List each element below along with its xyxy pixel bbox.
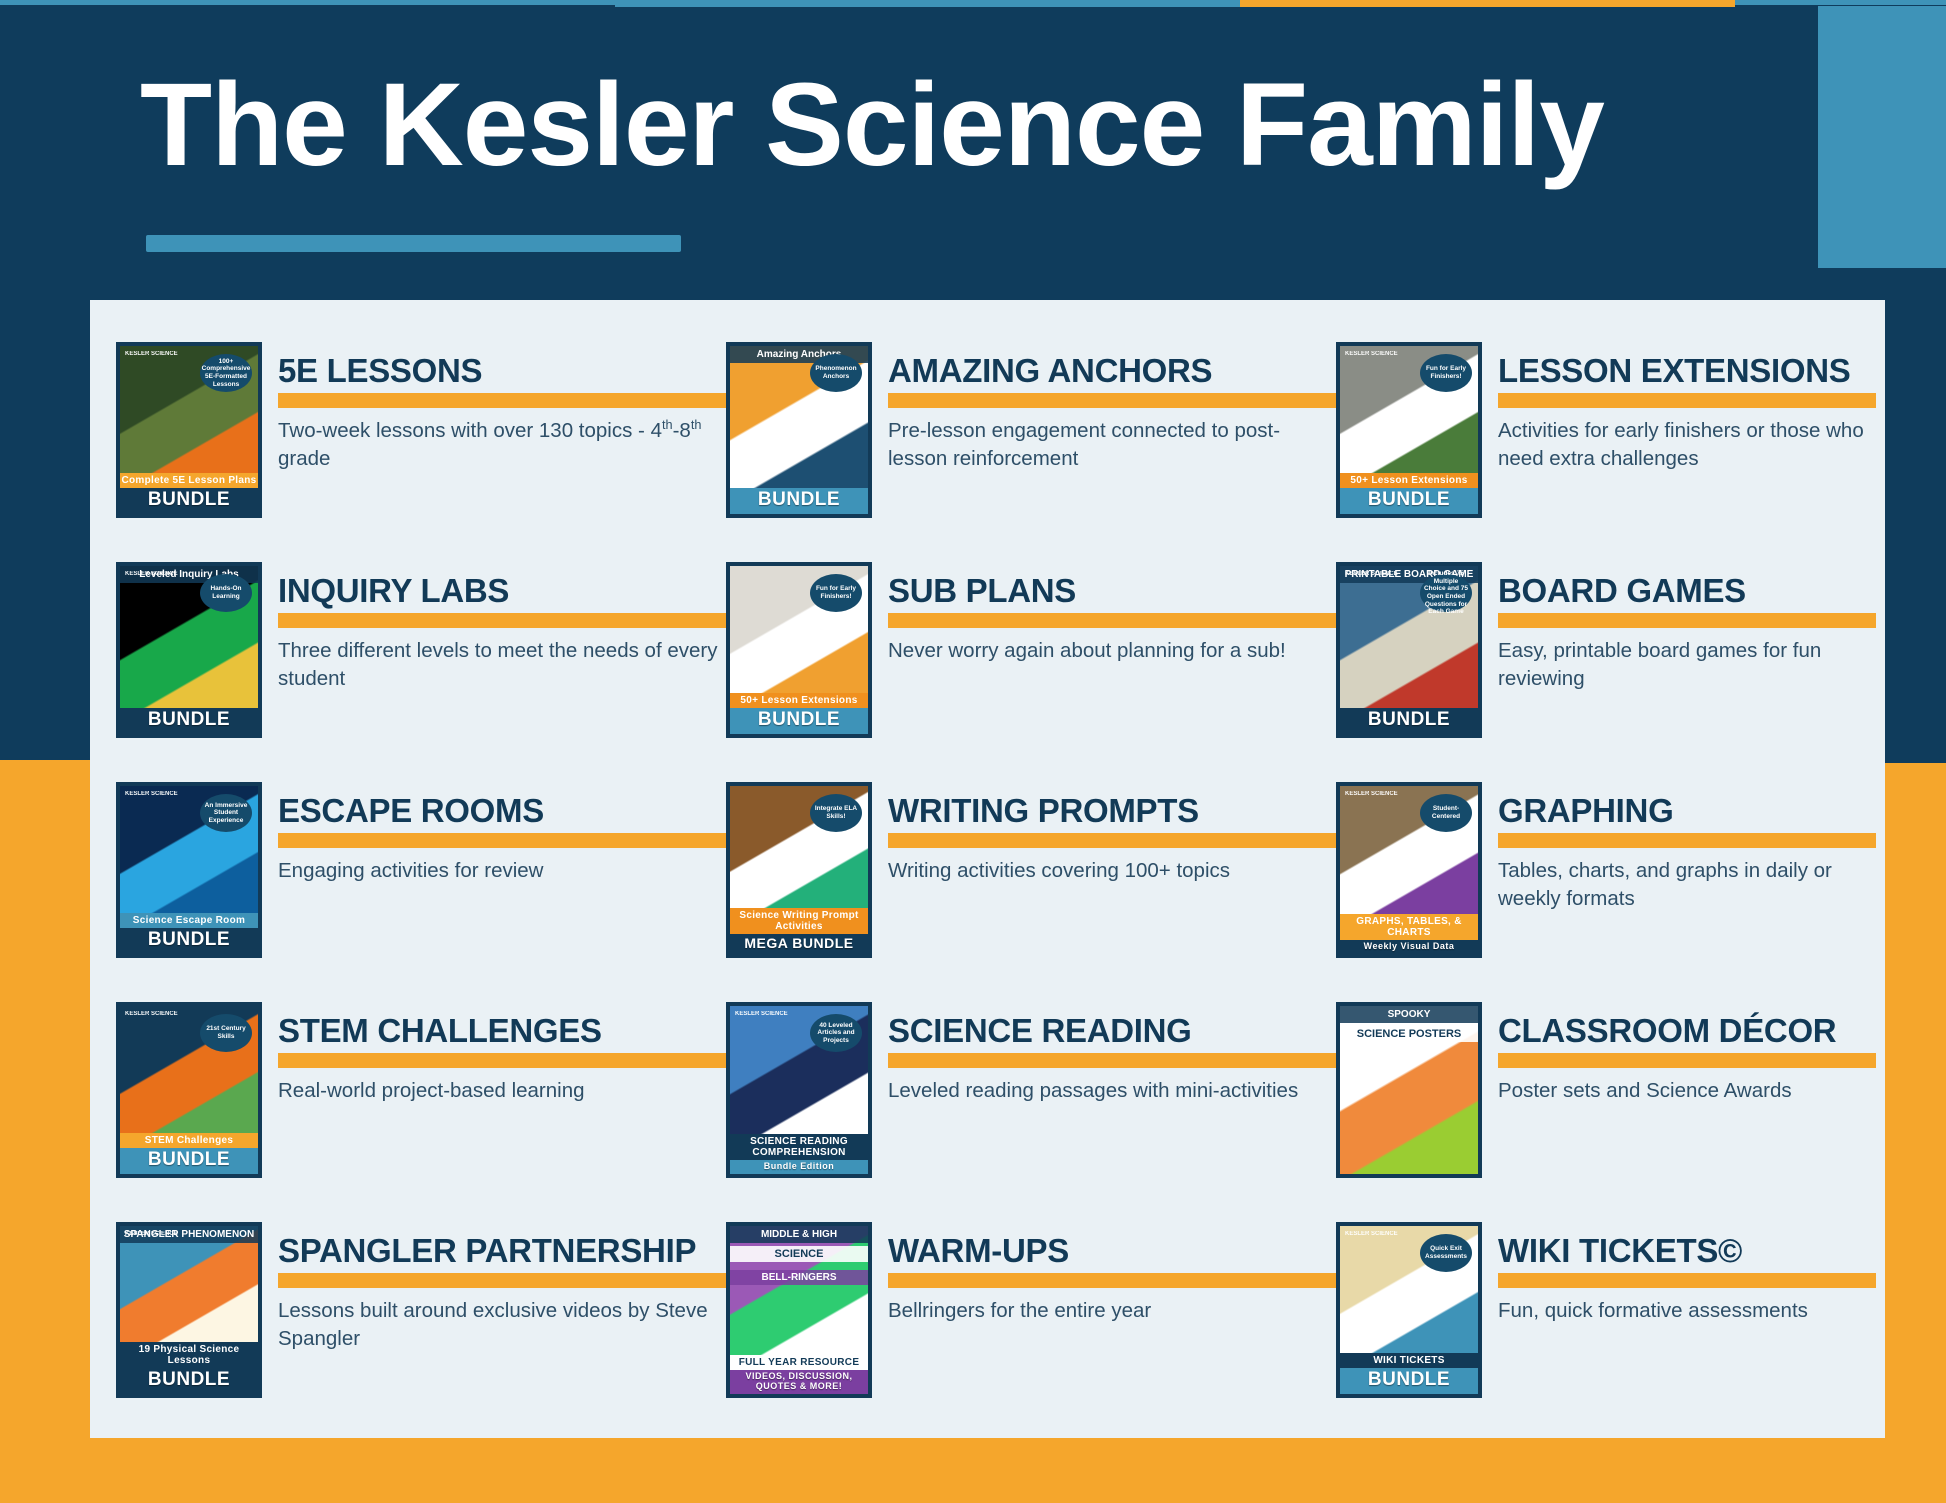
title-underline-bar — [1498, 833, 1876, 848]
product-text-block: SCIENCE READINGLeveled reading passages … — [888, 1002, 1336, 1105]
thumbnail-artwork: KESLER SCIENCEStudent-Centered — [1340, 786, 1478, 914]
thumbnail-badge: Integrate ELA Skills! — [810, 794, 862, 832]
products-grid: KESLER SCIENCE100+ Comprehensive 5E-Form… — [116, 342, 1876, 1442]
product-title: SUB PLANS — [888, 574, 1336, 608]
product-text-block: WRITING PROMPTSWriting activities coveri… — [888, 782, 1336, 885]
product-description: Engaging activities for review — [278, 857, 726, 884]
thumbnail-badge: An Immersive Student Experience — [200, 794, 252, 832]
thumbnail-caption: Complete 5E Lesson Plans — [120, 473, 258, 488]
product-text-block: WIKI TICKETS©Fun, quick formative assess… — [1498, 1222, 1876, 1325]
thumbnail-badge: Student-Centered — [1420, 794, 1472, 832]
title-underline-bar — [1498, 613, 1876, 628]
product-title: INQUIRY LABS — [278, 574, 726, 608]
product-card[interactable]: KESLER SCIENCEStudent-CenteredGRAPHS, TA… — [1336, 782, 1876, 1002]
product-description: Tables, charts, and graphs in daily or w… — [1498, 857, 1876, 912]
title-underline-bar — [278, 1053, 726, 1068]
product-text-block: LESSON EXTENSIONSActivities for early fi… — [1498, 342, 1876, 472]
product-text-block: GRAPHINGTables, charts, and graphs in da… — [1498, 782, 1876, 912]
product-description: Three different levels to meet the needs… — [278, 637, 726, 692]
product-thumbnail[interactable]: KESLER SCIENCE100+ Comprehensive 5E-Form… — [116, 342, 262, 518]
kesler-science-logo: KESLER SCIENCE — [1345, 1231, 1398, 1237]
top-rule-teal — [615, 0, 1240, 7]
thumbnail-badge: Fun for Early Finishers! — [810, 574, 862, 612]
thumbnail-bundle-label: BUNDLE — [120, 1148, 258, 1174]
thumbnail-badge: Hands-On Learning — [200, 574, 252, 612]
product-thumbnail[interactable]: KESLER SCIENCE21st Century SkillsSTEM Ch… — [116, 1002, 262, 1178]
product-thumbnail[interactable]: PRINTABLE BOARD GAMEKESLER SCIENCEInclud… — [1336, 562, 1482, 738]
thumbnail-subheader-text: SCIENCE POSTERS — [1340, 1026, 1478, 1042]
thumbnail-bundle-label: BUNDLE — [730, 708, 868, 734]
thumbnail-badge: Quick Exit Assessments — [1420, 1234, 1472, 1272]
product-description: Fun, quick formative assessments — [1498, 1297, 1876, 1324]
product-thumbnail[interactable]: KESLER SCIENCEFun for Early Finishers!50… — [1336, 342, 1482, 518]
product-thumbnail[interactable]: MIDDLE & HIGHSCIENCEBELL-RINGERSFULL YEA… — [726, 1222, 872, 1398]
title-underline-bar — [1498, 1053, 1876, 1068]
thumbnail-artwork: Fun for Early Finishers! — [730, 566, 868, 693]
product-thumbnail[interactable]: Amazing AnchorsPhenomenon AnchorsBUNDLE — [726, 342, 872, 518]
product-text-block: AMAZING ANCHORSPre-lesson engagement con… — [888, 342, 1336, 472]
thumbnail-bundle-label: BUNDLE — [1340, 708, 1478, 734]
thumbnail-artwork: Amazing AnchorsPhenomenon Anchors — [730, 346, 868, 488]
kesler-science-logo: KESLER SCIENCE — [125, 1011, 178, 1017]
thumbnail-caption: 19 Physical Science Lessons — [120, 1342, 258, 1368]
kesler-science-logo: KESLER SCIENCE — [125, 1231, 178, 1237]
product-text-block: SPANGLER PARTNERSHIPLessons built around… — [278, 1222, 726, 1352]
kesler-science-logo: KESLER SCIENCE — [1345, 571, 1398, 577]
product-thumbnail[interactable]: Fun for Early Finishers!50+ Lesson Exten… — [726, 562, 872, 738]
product-description: Never worry again about planning for a s… — [888, 637, 1336, 664]
product-thumbnail[interactable]: KESLER SCIENCEStudent-CenteredGRAPHS, TA… — [1336, 782, 1482, 958]
title-underline-bar — [888, 613, 1336, 628]
thumbnail-bundle-label: BUNDLE — [1340, 488, 1478, 514]
thumbnail-caption: STEM Challenges — [120, 1133, 258, 1148]
product-text-block: 5E LESSONSTwo-week lessons with over 130… — [278, 342, 726, 472]
product-description: Lessons built around exclusive videos by… — [278, 1297, 726, 1352]
thumbnail-artwork: KESLER SCIENCEQuick Exit Assessments — [1340, 1226, 1478, 1353]
product-card[interactable]: Integrate ELA Skills!Science Writing Pro… — [726, 782, 1336, 1002]
product-thumbnail[interactable]: SPOOKYSCIENCE POSTERS — [1336, 1002, 1482, 1178]
thumbnail-caption: Science Escape Room — [120, 913, 258, 928]
thumbnail-badge: Phenomenon Anchors — [810, 354, 862, 392]
product-text-block: CLASSROOM DÉCORPoster sets and Science A… — [1498, 1002, 1876, 1105]
thumbnail-caption: WIKI TICKETS — [1340, 1353, 1478, 1368]
thumbnail-bundle-label: BUNDLE — [120, 488, 258, 514]
thumbnail-bundle-label: BUNDLE — [1340, 1368, 1478, 1394]
product-card[interactable]: Amazing AnchorsPhenomenon AnchorsBUNDLEA… — [726, 342, 1336, 562]
kesler-science-logo: KESLER SCIENCE — [1345, 791, 1398, 797]
product-card[interactable]: KESLER SCIENCEFun for Early Finishers!50… — [1336, 342, 1876, 562]
product-text-block: INQUIRY LABSThree different levels to me… — [278, 562, 726, 692]
product-card[interactable]: Fun for Early Finishers!50+ Lesson Exten… — [726, 562, 1336, 782]
product-thumbnail[interactable]: KESLER SCIENCEAn Immersive Student Exper… — [116, 782, 262, 958]
thumbnail-artwork: SPANGLER PHENOMENONKESLER SCIENCE — [120, 1226, 258, 1342]
thumbnail-artwork: KESLER SCIENCEAn Immersive Student Exper… — [120, 786, 258, 913]
product-description: Pre-lesson engagement connected to post-… — [888, 417, 1336, 472]
product-card[interactable]: Leveled Inquiry LabsKESLER SCIENCEHands-… — [116, 562, 726, 782]
title-underline-bar — [278, 393, 726, 408]
title-underline-bar — [888, 393, 1336, 408]
product-card[interactable]: KESLER SCIENCE100+ Comprehensive 5E-Form… — [116, 342, 726, 562]
thumbnail-artwork: KESLER SCIENCEFun for Early Finishers! — [1340, 346, 1478, 473]
product-card[interactable]: PRINTABLE BOARD GAMEKESLER SCIENCEInclud… — [1336, 562, 1876, 782]
product-title: WIKI TICKETS© — [1498, 1234, 1876, 1268]
kesler-science-logo: KESLER SCIENCE — [1345, 351, 1398, 357]
product-thumbnail[interactable]: KESLER SCIENCE40 Leveled Articles and Pr… — [726, 1002, 872, 1178]
product-description: Leveled reading passages with mini-activ… — [888, 1077, 1336, 1104]
thumbnail-artwork: PRINTABLE BOARD GAMEKESLER SCIENCEInclud… — [1340, 566, 1478, 708]
product-title: WARM-UPS — [888, 1234, 1336, 1268]
thumbnail-artwork: KESLER SCIENCE40 Leveled Articles and Pr… — [730, 1006, 868, 1134]
thumbnail-badge: 100+ Comprehensive 5E-Formatted Lessons — [200, 354, 252, 392]
product-title: SCIENCE READING — [888, 1014, 1336, 1048]
thumbnail-bundle-label: Bundle Edition — [730, 1160, 868, 1174]
kesler-science-logo: KESLER SCIENCE — [125, 791, 178, 797]
kesler-science-logo: KESLER SCIENCE — [735, 1011, 788, 1017]
title-underline-bar — [888, 1273, 1336, 1288]
top-rule-right — [1735, 0, 1946, 5]
thumbnail-badge: 21st Century Skills — [200, 1014, 252, 1052]
product-thumbnail[interactable]: Integrate ELA Skills!Science Writing Pro… — [726, 782, 872, 958]
product-description: Bellringers for the entire year — [888, 1297, 1336, 1324]
product-description: Two-week lessons with over 130 topics - … — [278, 417, 726, 472]
product-title: LESSON EXTENSIONS — [1498, 354, 1876, 388]
product-title: WRITING PROMPTS — [888, 794, 1336, 828]
title-underline-bar — [278, 613, 726, 628]
thumbnail-caption: GRAPHS, TABLES, & CHARTS — [1340, 914, 1478, 940]
thumbnail-bundle-label: BUNDLE — [120, 1368, 258, 1394]
thumbnail-artwork: KESLER SCIENCE100+ Comprehensive 5E-Form… — [120, 346, 258, 473]
product-description: Poster sets and Science Awards — [1498, 1077, 1876, 1104]
product-text-block: ESCAPE ROOMSEngaging activities for revi… — [278, 782, 726, 885]
product-title: GRAPHING — [1498, 794, 1876, 828]
title-underline — [146, 235, 681, 252]
product-thumbnail[interactable]: KESLER SCIENCEQuick Exit AssessmentsWIKI… — [1336, 1222, 1482, 1398]
page-title: The Kesler Science Family — [140, 62, 1800, 189]
product-title: STEM CHALLENGES — [278, 1014, 726, 1048]
thumbnail-header-text: MIDDLE & HIGH — [730, 1226, 868, 1243]
thumbnail-caption: 50+ Lesson Extensions — [730, 693, 868, 708]
thumbnail-caption: Science Writing Prompt Activities — [730, 908, 868, 934]
product-thumbnail[interactable]: SPANGLER PHENOMENONKESLER SCIENCE19 Phys… — [116, 1222, 262, 1398]
product-text-block: STEM CHALLENGESReal-world project-based … — [278, 1002, 726, 1105]
title-underline-bar — [888, 833, 1336, 848]
product-text-block: BOARD GAMESEasy, printable board games f… — [1498, 562, 1876, 692]
title-underline-bar — [888, 1053, 1336, 1068]
thumbnail-bundle-label: BUNDLE — [120, 708, 258, 734]
product-card[interactable]: KESLER SCIENCEAn Immersive Student Exper… — [116, 782, 726, 1002]
product-title: BOARD GAMES — [1498, 574, 1876, 608]
product-title: CLASSROOM DÉCOR — [1498, 1014, 1876, 1048]
product-description: Easy, printable board games for fun revi… — [1498, 637, 1876, 692]
poster-canvas: The Kesler Science Family KESLER SCIENCE… — [0, 0, 1946, 1503]
product-description: Writing activities covering 100+ topics — [888, 857, 1336, 884]
title-underline-bar — [278, 833, 726, 848]
top-rule-left — [0, 0, 615, 5]
thumbnail-caption: FULL YEAR RESOURCE — [730, 1355, 868, 1370]
product-title: 5E LESSONS — [278, 354, 726, 388]
title-underline-bar — [1498, 1273, 1876, 1288]
thumbnail-third-header-text: BELL-RINGERS — [730, 1270, 868, 1285]
product-title: ESCAPE ROOMS — [278, 794, 726, 828]
product-text-block: SUB PLANSNever worry again about plannin… — [888, 562, 1336, 665]
thumbnail-badge: Includes 75 Multiple Choice and 75 Open … — [1420, 574, 1472, 612]
product-description: Real-world project-based learning — [278, 1077, 726, 1104]
thumbnail-artwork: KESLER SCIENCE21st Century Skills — [120, 1006, 258, 1133]
thumbnail-subheader-text: SCIENCE — [730, 1246, 868, 1262]
title-underline-bar — [278, 1273, 726, 1288]
product-card[interactable]: MIDDLE & HIGHSCIENCEBELL-RINGERSFULL YEA… — [726, 1222, 1336, 1442]
thumbnail-bundle-label: BUNDLE — [120, 928, 258, 954]
product-card[interactable]: KESLER SCIENCEQuick Exit AssessmentsWIKI… — [1336, 1222, 1876, 1442]
product-title: SPANGLER PARTNERSHIP — [278, 1234, 726, 1268]
thumbnail-caption: SCIENCE READING COMPREHENSION — [730, 1134, 868, 1160]
title-underline-bar — [1498, 393, 1876, 408]
product-card[interactable]: KESLER SCIENCE21st Century SkillsSTEM Ch… — [116, 1002, 726, 1222]
thumbnail-caption: 50+ Lesson Extensions — [1340, 473, 1478, 488]
thumbnail-bundle-label: Weekly Visual Data — [1340, 940, 1478, 954]
product-card[interactable]: KESLER SCIENCE40 Leveled Articles and Pr… — [726, 1002, 1336, 1222]
teal-accent-block — [1818, 6, 1946, 268]
products-panel: KESLER SCIENCE100+ Comprehensive 5E-Form… — [90, 300, 1885, 1438]
thumbnail-bundle-label: VIDEOS, DISCUSSION, QUOTES & MORE! — [730, 1370, 868, 1394]
product-thumbnail[interactable]: Leveled Inquiry LabsKESLER SCIENCEHands-… — [116, 562, 262, 738]
kesler-science-logo: KESLER SCIENCE — [125, 351, 178, 357]
product-text-block: WARM-UPSBellringers for the entire year — [888, 1222, 1336, 1325]
thumbnail-badge: Fun for Early Finishers! — [1420, 354, 1472, 392]
thumbnail-artwork: Integrate ELA Skills! — [730, 786, 868, 908]
thumbnail-artwork: SPOOKYSCIENCE POSTERS — [1340, 1006, 1478, 1174]
product-card[interactable]: SPANGLER PHENOMENONKESLER SCIENCE19 Phys… — [116, 1222, 726, 1442]
thumbnail-badge: 40 Leveled Articles and Projects — [810, 1014, 862, 1052]
product-title: AMAZING ANCHORS — [888, 354, 1336, 388]
thumbnail-artwork: Leveled Inquiry LabsKESLER SCIENCEHands-… — [120, 566, 258, 708]
product-card[interactable]: SPOOKYSCIENCE POSTERSCLASSROOM DÉCORPost… — [1336, 1002, 1876, 1222]
thumbnail-header-text: SPOOKY — [1340, 1006, 1478, 1023]
top-rule-orange — [1240, 0, 1735, 7]
thumbnail-bundle-label: MEGA BUNDLE — [730, 934, 868, 954]
product-description: Activities for early finishers or those … — [1498, 417, 1876, 472]
thumbnail-bundle-label: BUNDLE — [730, 488, 868, 514]
kesler-science-logo: KESLER SCIENCE — [125, 571, 178, 577]
thumbnail-artwork: MIDDLE & HIGHSCIENCEBELL-RINGERS — [730, 1226, 868, 1355]
